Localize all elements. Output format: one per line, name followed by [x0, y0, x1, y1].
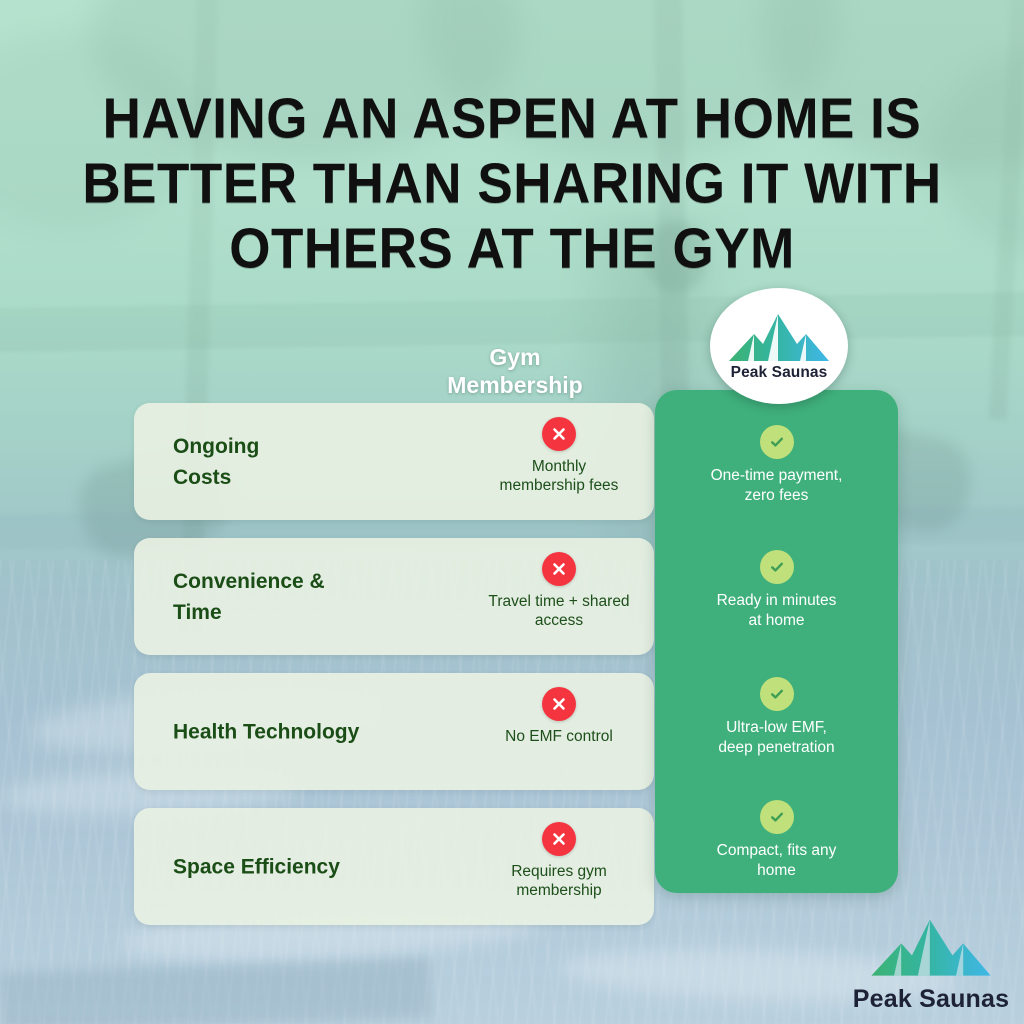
peak-text-line-2: zero fees — [671, 486, 882, 506]
logo-wordmark: Peak Saunas — [853, 985, 1009, 1014]
row-label-space-efficiency: Space Efficiency — [173, 851, 340, 882]
row-label-ongoing-costs: Ongoing Costs — [173, 431, 259, 493]
gym-cell-text: Requires gym membership — [464, 862, 654, 900]
headline-line-2: BETTER THAN SHARING IT WITH — [0, 151, 1024, 216]
table-row: Convenience & Time Travel time + shared … — [134, 538, 654, 655]
logo-wordmark: Peak Saunas — [731, 364, 828, 382]
peak-cell: Ready in minutes at home — [655, 550, 898, 631]
headline-line-3: OTHERS AT THE GYM — [0, 216, 1024, 281]
gym-cell: No EMF control — [464, 687, 654, 746]
x-circle-icon — [542, 687, 576, 721]
peak-saunas-panel: One-time payment, zero fees Ready in min… — [655, 390, 898, 893]
column-header-gym-membership: Gym Membership — [395, 343, 635, 399]
table-row: Space Efficiency Requires gym membership — [134, 808, 654, 925]
gym-cell: Requires gym membership — [464, 822, 654, 900]
row-label-line-1: Space Efficiency — [173, 851, 340, 882]
x-circle-icon — [542, 822, 576, 856]
peak-cell-text: One-time payment, zero fees — [655, 466, 898, 506]
x-circle-icon — [542, 417, 576, 451]
peak-cell-text: Ready in minutes at home — [655, 591, 898, 631]
peak-cell: Compact, fits any home — [655, 800, 898, 881]
gym-text-line-2: membership — [464, 881, 654, 900]
table-row: Health Technology No EMF control — [134, 673, 654, 790]
mountain-logo-icon — [727, 311, 831, 363]
gym-text-line-1: Travel time + shared — [464, 592, 654, 611]
page-title: HAVING AN ASPEN AT HOME IS BETTER THAN S… — [0, 86, 1024, 281]
row-label-health-technology: Health Technology — [173, 716, 359, 747]
peak-text-line-1: Ready in minutes — [671, 591, 882, 611]
check-circle-icon — [760, 550, 794, 584]
x-circle-icon — [542, 552, 576, 586]
row-label-line-2: Time — [173, 597, 325, 628]
comparison-table: Ongoing Costs Monthly membership fees Co… — [134, 403, 654, 943]
gym-cell: Monthly membership fees — [464, 417, 654, 495]
peak-text-line-2: deep penetration — [671, 738, 882, 758]
table-row: Ongoing Costs Monthly membership fees — [134, 403, 654, 520]
gym-cell: Travel time + shared access — [464, 552, 654, 630]
gym-cell-text: No EMF control — [464, 727, 654, 746]
mountain-logo-icon — [856, 916, 1006, 983]
peak-text-line-1: Compact, fits any — [671, 841, 882, 861]
row-label-line-1: Convenience & — [173, 566, 325, 597]
peak-saunas-logo-badge: Peak Saunas — [710, 288, 848, 404]
gym-cell-text: Travel time + shared access — [464, 592, 654, 630]
row-label-line-1: Ongoing — [173, 431, 259, 462]
peak-text-line-1: Ultra-low EMF, — [671, 718, 882, 738]
row-label-line-2: Costs — [173, 462, 259, 493]
peak-cell-text: Compact, fits any home — [655, 841, 898, 881]
peak-text-line-2: home — [671, 861, 882, 881]
gym-text-line-1: Requires gym — [464, 862, 654, 881]
row-label-convenience-time: Convenience & Time — [173, 566, 325, 628]
peak-text-line-2: at home — [671, 611, 882, 631]
check-circle-icon — [760, 425, 794, 459]
gym-cell-text: Monthly membership fees — [464, 457, 654, 495]
column-header-gym-line-2: Membership — [395, 371, 635, 399]
check-circle-icon — [760, 677, 794, 711]
headline-line-1: HAVING AN ASPEN AT HOME IS — [0, 86, 1024, 151]
gym-text-line-2: membership fees — [464, 476, 654, 495]
peak-cell-text: Ultra-low EMF, deep penetration — [655, 718, 898, 758]
peak-cell: Ultra-low EMF, deep penetration — [655, 677, 898, 758]
row-label-line-1: Health Technology — [173, 716, 359, 747]
check-circle-icon — [760, 800, 794, 834]
gym-text-line-2: access — [464, 611, 654, 630]
column-header-gym-line-1: Gym — [395, 343, 635, 371]
gym-text-line-1: Monthly — [464, 457, 654, 476]
gym-text-line-1: No EMF control — [464, 727, 654, 746]
footer-logo: Peak Saunas — [846, 916, 1016, 1014]
peak-text-line-1: One-time payment, — [671, 466, 882, 486]
peak-cell: One-time payment, zero fees — [655, 425, 898, 506]
